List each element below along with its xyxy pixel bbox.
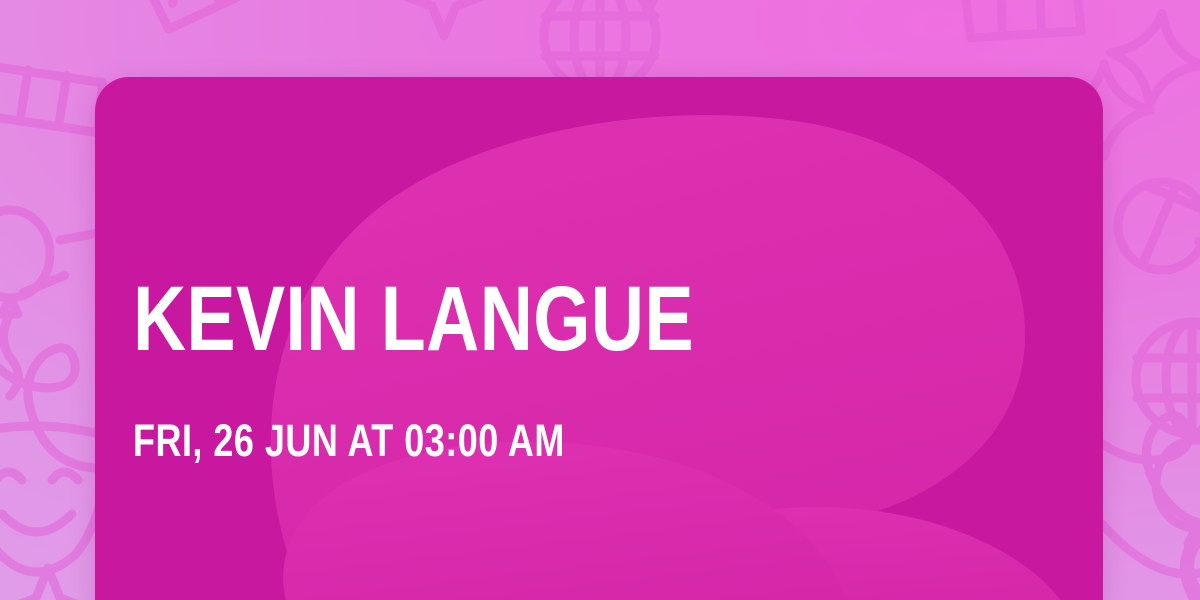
event-datetime: FRI, 26 JUN AT 03:00 AM [133,418,565,463]
event-title: KEVIN LANGUE [133,273,694,365]
event-banner: KEVIN LANGUE FRI, 26 JUN AT 03:00 AM [0,0,1200,600]
event-card: KEVIN LANGUE FRI, 26 JUN AT 03:00 AM [95,77,1103,600]
event-card-content: KEVIN LANGUE FRI, 26 JUN AT 03:00 AM [133,77,893,600]
